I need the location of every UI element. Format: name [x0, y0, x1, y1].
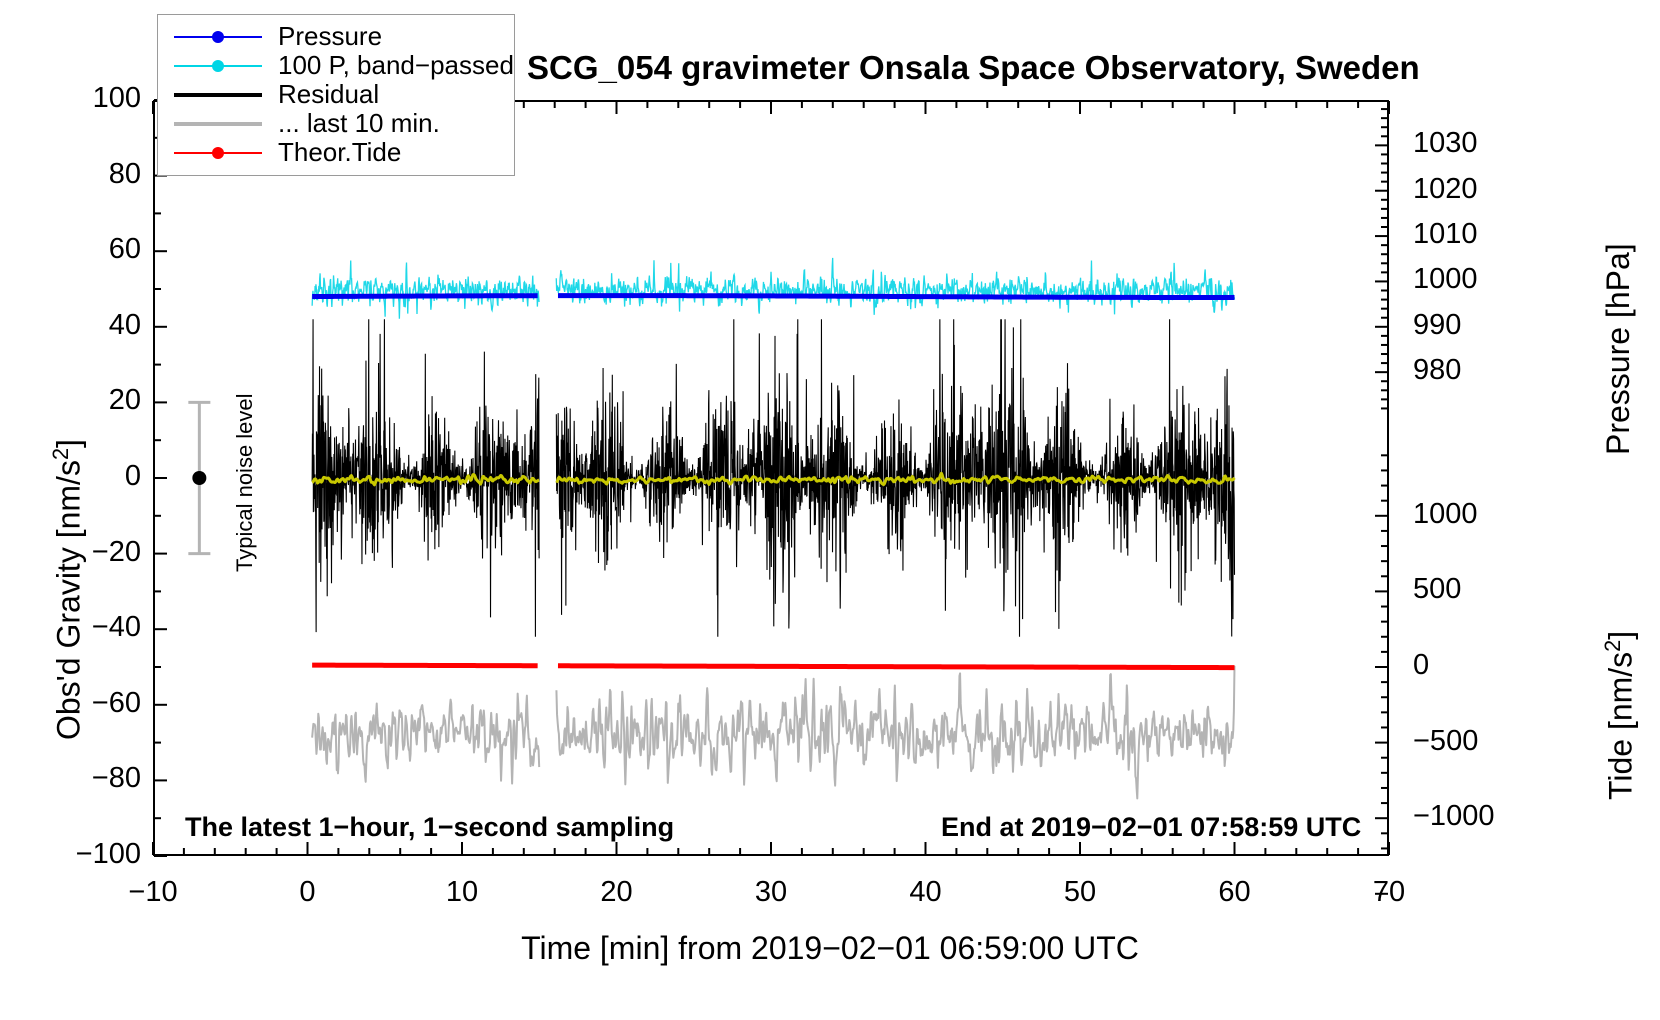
legend-line	[174, 122, 262, 126]
y-tick-label-left: 80	[3, 160, 141, 189]
y-tick-label-left: −80	[3, 764, 141, 793]
legend-line-tide	[174, 138, 262, 167]
legend-item-label: Residual	[278, 79, 379, 110]
y-tick-label-left: −20	[3, 538, 141, 567]
legend-item[interactable]: ... last 10 min.	[158, 109, 514, 138]
legend-item[interactable]: Theor.Tide	[158, 138, 514, 167]
legend-marker-dot	[212, 60, 224, 72]
y-tick-label-pressure: 1020	[1413, 175, 1503, 204]
y-tick-label-pressure: 990	[1413, 311, 1503, 340]
end-time-note: End at 2019−02−01 07:58:59 UTC	[941, 812, 1361, 843]
legend-item[interactable]: Pressure	[158, 22, 514, 51]
legend-item-label: Theor.Tide	[278, 137, 401, 168]
x-tick-label: 50	[1020, 878, 1140, 907]
y-tick-label-pressure: 1010	[1413, 220, 1503, 249]
legend-item-label: Pressure	[278, 21, 382, 52]
legend-item[interactable]: Residual	[158, 80, 514, 109]
y-tick-label-left: −60	[3, 689, 141, 718]
tide-axis-title-text: Tide [nm/s	[1603, 652, 1639, 800]
y-tick-label-left: 100	[3, 84, 141, 113]
y-tick-label-tide: 500	[1413, 575, 1523, 604]
y-tick-label-left: 60	[3, 235, 141, 264]
series-pressure	[312, 296, 1234, 298]
y-tick-label-tide: −1000	[1413, 802, 1523, 831]
sampling-note: The latest 1−hour, 1−second sampling	[185, 812, 674, 843]
y-tick-label-left: 20	[3, 386, 141, 415]
chart-legend: Pressure100 P, band−passedResidual... la…	[157, 14, 515, 176]
y-tick-label-pressure: 1030	[1413, 129, 1503, 158]
gravimeter-chart-page: SCG_054 gravimeter Onsala Space Observat…	[0, 0, 1660, 1020]
x-axis-title: Time [min] from 2019−02−01 06:59:00 UTC	[0, 930, 1660, 967]
series-last-10-min	[312, 666, 1234, 799]
x-tick-label: 10	[402, 878, 522, 907]
legend-line-bandpassed	[174, 51, 262, 80]
y-tick-label-left: −40	[3, 613, 141, 642]
legend-marker-dot	[212, 147, 224, 159]
y-tick-label-tide: −500	[1413, 727, 1523, 756]
tide-axis-title-bracket: ]	[1603, 631, 1639, 640]
legend-item-label: 100 P, band−passed	[278, 50, 514, 81]
x-tick-label: 0	[248, 878, 368, 907]
series-bandpassed-pressure	[312, 258, 1234, 319]
y-tick-label-tide: 0	[1413, 651, 1523, 680]
y-axis-tide-title: Tide [nm/s2]	[1600, 631, 1640, 800]
legend-item-label: ... last 10 min.	[278, 108, 440, 139]
x-tick-label: 40	[866, 878, 986, 907]
y-axis-title-superscript: 2	[48, 448, 73, 460]
y-tick-label-tide: 1000	[1413, 500, 1523, 529]
y-tick-label-pressure: 1000	[1413, 265, 1503, 294]
x-tick-label: 60	[1175, 878, 1295, 907]
legend-line-pressure	[174, 22, 262, 51]
legend-line-residual	[174, 80, 262, 109]
legend-item[interactable]: 100 P, band−passed	[158, 51, 514, 80]
y-axis-title-bracket: ]	[51, 439, 87, 448]
legend-line-last10	[174, 109, 262, 138]
y-tick-label-left: 0	[3, 462, 141, 491]
typical-noise-level-label: Typical noise level	[232, 393, 258, 572]
y-tick-label-pressure: 980	[1413, 356, 1503, 385]
legend-line	[174, 93, 262, 97]
x-tick-label: 20	[557, 878, 677, 907]
y-tick-label-left: −100	[3, 840, 141, 869]
tide-axis-title-superscript: 2	[1600, 640, 1625, 652]
y-axis-pressure-title: Pressure [hPa]	[1600, 243, 1637, 455]
page-title: SCG_054 gravimeter Onsala Space Observat…	[527, 49, 1420, 87]
x-tick-label: −10	[93, 878, 213, 907]
legend-marker-dot	[212, 31, 224, 43]
noise-errorbar-marker	[192, 471, 206, 485]
x-tick-label: 30	[711, 878, 831, 907]
x-tick-label: 70	[1329, 878, 1449, 907]
series-theor-tide	[312, 665, 1234, 667]
y-tick-label-left: 40	[3, 311, 141, 340]
